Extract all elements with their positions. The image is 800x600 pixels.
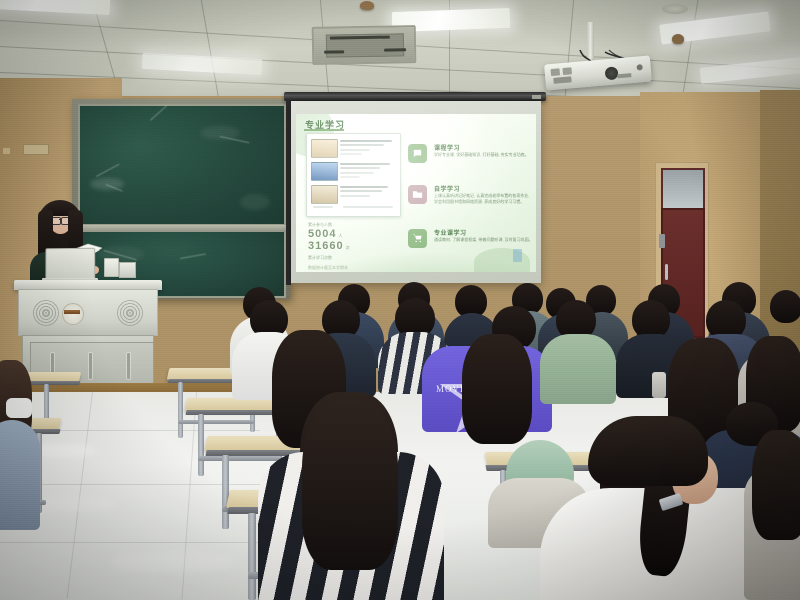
cart-icon xyxy=(408,229,427,248)
stat-unit-1: 人 xyxy=(338,233,342,239)
air-conditioner-vent xyxy=(312,25,417,65)
slide-item-1-heading: 课程学习 xyxy=(434,143,460,152)
student-green-shirt xyxy=(540,334,616,404)
slide-item-3-heading: 专业课学习 xyxy=(434,228,467,237)
blackboard-upper-panel xyxy=(78,104,286,226)
slide-item-2-heading: 自学学习 xyxy=(434,184,460,193)
slide-title-underline xyxy=(304,129,344,131)
wall-sign xyxy=(23,144,49,155)
water-bottle xyxy=(652,372,666,398)
course-thumbnail-icon xyxy=(311,162,338,181)
slide-item-1-body: 学好专业课, 学好基础知识, 打好基础, 夯实专业功底。 xyxy=(434,152,534,158)
desk-box xyxy=(119,262,136,278)
podium-emblem xyxy=(62,303,84,325)
slide-item-1: 课程学习 学好专业课, 学好基础知识, 打好基础, 夯实专业功底。 xyxy=(408,142,534,175)
list-item xyxy=(311,160,396,181)
student-long-hair xyxy=(752,430,800,540)
smoke-detector-icon xyxy=(360,1,374,10)
projection-screen-roller[interactable] xyxy=(284,92,546,101)
student-hair-top xyxy=(588,416,708,486)
podium xyxy=(18,289,158,336)
paper-cup xyxy=(104,258,119,277)
slide-item-3-body: 通读教材, 了解课程框架, 带着问题听课, 及时复习巩固。 xyxy=(434,237,534,243)
projection-screen: 专业学习 xyxy=(291,101,541,283)
slide-item-2-body: 上课认真听讲记好笔记, 认真完成老师布置的各项作业, 学会利用图书馆和网络资源,… xyxy=(434,193,534,205)
slide-decor-base xyxy=(296,252,536,272)
wall-hook-icon xyxy=(3,148,10,154)
chat-bubble-icon xyxy=(408,144,427,163)
stat-value-2: 31660 xyxy=(308,240,344,252)
student-long-hair xyxy=(302,400,398,570)
face-mask-icon xyxy=(6,398,32,418)
screen-roller-cap xyxy=(532,95,541,99)
classroom-photo: 专业学习 xyxy=(0,0,800,600)
list-item xyxy=(311,183,396,204)
student-head xyxy=(770,290,800,323)
course-thumbnail-icon xyxy=(311,139,338,158)
slide-course-card xyxy=(306,133,401,217)
ceiling-speaker-icon xyxy=(662,4,688,14)
podium-speaker-grille xyxy=(117,300,143,326)
list-item xyxy=(311,137,396,158)
ceiling-light-panel-2 xyxy=(142,53,263,75)
course-thumbnail-icon xyxy=(311,185,338,204)
student-torso xyxy=(0,420,40,530)
podium-emblem-bar xyxy=(64,310,80,314)
ceiling-light-panel-1 xyxy=(0,0,110,15)
ceiling-dome-detector-icon xyxy=(672,34,684,44)
slide-item-2: 自学学习 上课认真听讲记好笔记, 认真完成老师布置的各项作业, 学会利用图书馆和… xyxy=(408,183,534,216)
podium-speaker-grille xyxy=(33,300,59,326)
stat-unit-2: 次 xyxy=(346,245,350,251)
folder-icon xyxy=(408,185,427,204)
stat-value-1: 5004 xyxy=(308,228,336,240)
eyeglasses-bridge xyxy=(59,219,62,220)
presentation-slide: 专业学习 xyxy=(296,114,536,272)
ceiling-light-panel-5 xyxy=(699,56,800,83)
student-long-hair xyxy=(462,334,532,444)
door-window xyxy=(661,168,705,212)
